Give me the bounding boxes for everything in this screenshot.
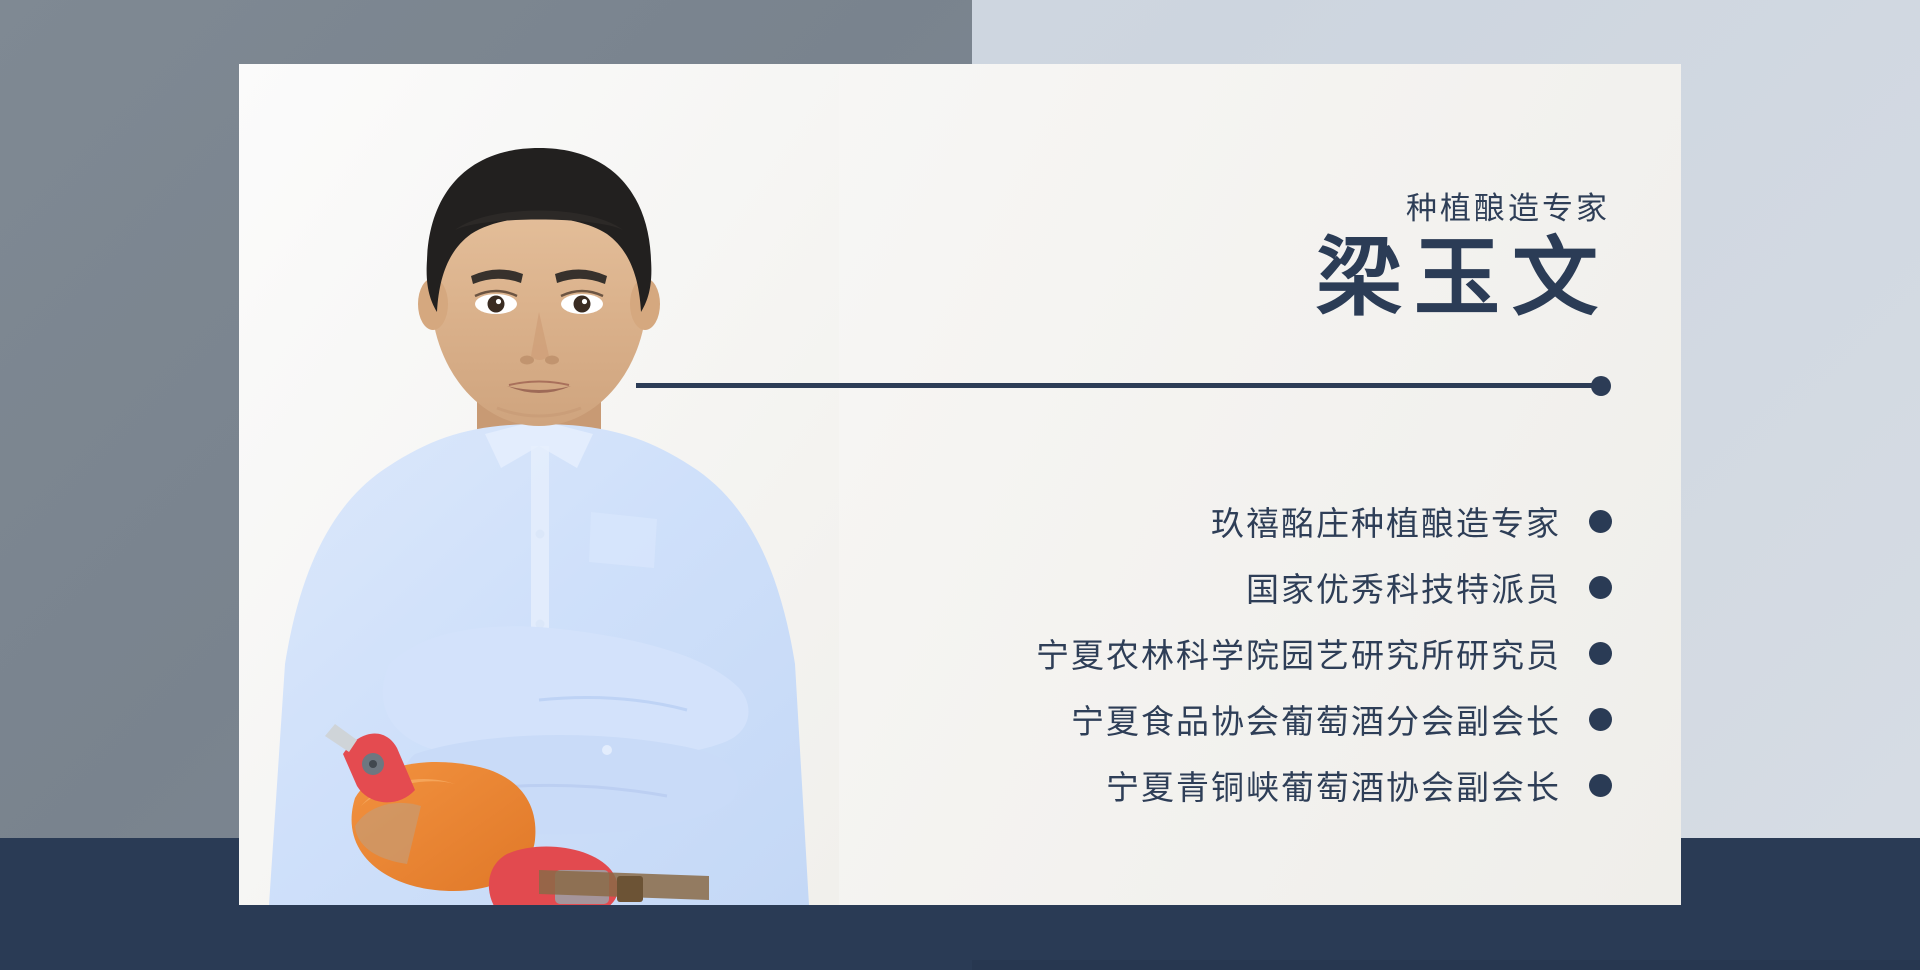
expert-name: 梁玉文 xyxy=(840,232,1610,325)
divider-line xyxy=(636,383,1602,388)
list-item: 宁夏青铜峡葡萄酒协会副会长 xyxy=(780,752,1612,818)
bullet-dot-icon xyxy=(1589,510,1612,533)
bullet-dot-icon xyxy=(1589,642,1612,665)
list-item: 宁夏农林科学院园艺研究所研究员 xyxy=(780,620,1612,686)
portrait-photo xyxy=(239,64,839,905)
credential-text: 宁夏青铜峡葡萄酒协会副会长 xyxy=(1106,761,1561,809)
credential-text: 国家优秀科技特派员 xyxy=(1246,563,1561,611)
poster-stage: 种植酿造专家 梁玉文 玖禧酩庄种植酿造专家 国家优秀科技特派员 宁夏农林科学院园… xyxy=(0,0,1920,970)
credential-text: 宁夏食品协会葡萄酒分会副会长 xyxy=(1071,695,1561,743)
portrait-illustration xyxy=(239,64,839,905)
role-label: 种植酿造专家 xyxy=(840,183,1610,228)
bullet-dot-icon xyxy=(1589,708,1612,731)
credentials-list: 玖禧酩庄种植酿造专家 国家优秀科技特派员 宁夏农林科学院园艺研究所研究员 宁夏食… xyxy=(780,488,1612,818)
list-item: 国家优秀科技特派员 xyxy=(780,554,1612,620)
list-item: 宁夏食品协会葡萄酒分会副会长 xyxy=(780,686,1612,752)
divider-end-dot-icon xyxy=(1591,376,1611,396)
list-item: 玖禧酩庄种植酿造专家 xyxy=(780,488,1612,554)
credential-text: 玖禧酩庄种植酿造专家 xyxy=(1211,497,1561,545)
background-navy-seam xyxy=(972,960,1920,970)
credential-text: 宁夏农林科学院园艺研究所研究员 xyxy=(1036,629,1561,677)
bullet-dot-icon xyxy=(1589,576,1612,599)
bullet-dot-icon xyxy=(1589,774,1612,797)
